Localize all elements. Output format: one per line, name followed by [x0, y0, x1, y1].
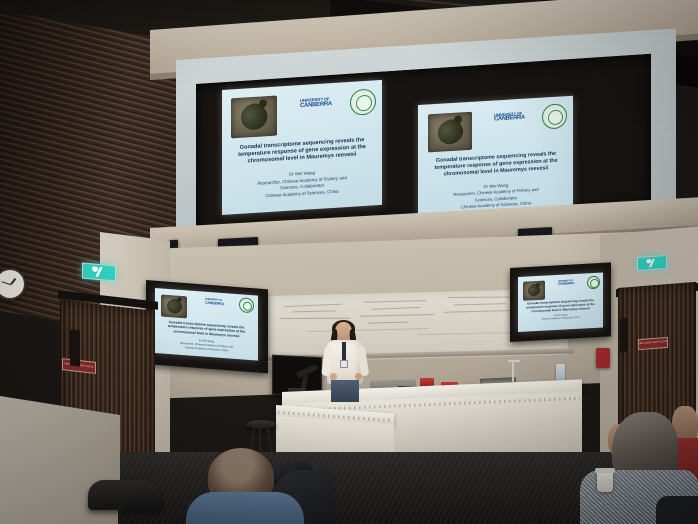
slide-turtle-image	[523, 281, 545, 301]
lecture-chair-left[interactable]	[88, 480, 162, 510]
university-logo-line-2: CANBERRA	[205, 301, 224, 306]
coffee-cup-lid	[595, 468, 615, 473]
society-seal-logo	[587, 276, 600, 290]
university-logo: UNIVERSITY OF CANBERRA	[205, 299, 224, 307]
university-logo-line-2: CANBERRA	[494, 116, 525, 124]
coffee-cup[interactable]	[597, 470, 613, 492]
society-seal-logo	[239, 297, 254, 313]
presenter-hand-right	[355, 373, 362, 380]
bar-stool-seat[interactable]	[246, 420, 276, 429]
slide-turtle-image	[231, 96, 277, 139]
wall-monitor-right[interactable]: UNIVERSITY OF CANBERRA Gonadal transcrip…	[518, 273, 603, 332]
projection-screen-left[interactable]: UNIVERSITY OF CANBERRA Gonadal transcrip…	[222, 80, 382, 215]
fire-door-notice-right-text: FIRE DOOR KEEP CLEAR	[639, 341, 668, 346]
university-logo: UNIVERSITY OF CANBERRA	[558, 280, 574, 286]
exit-sign-left	[82, 263, 116, 282]
slide-presenter-block: Dr Wei Wang Chinese Academy of Sciences,…	[522, 313, 599, 324]
door-handle-left[interactable]	[70, 329, 80, 366]
presenter-name-badge	[340, 360, 348, 368]
university-logo: UNIVERSITY OF CANBERRA	[494, 112, 525, 124]
slide-turtle-image	[161, 294, 187, 318]
slide-title: Gonadal transcriptome sequencing reveals…	[230, 136, 374, 167]
door-handle-right[interactable]	[620, 318, 628, 353]
slide-title: Gonadal transcriptome sequencing reveals…	[522, 299, 599, 315]
running-man-icon	[644, 258, 661, 268]
turtle-head	[536, 282, 541, 287]
presenter-hand-left	[330, 373, 337, 380]
sink-tap[interactable]	[512, 362, 514, 382]
slide-title: Gonadal transcriptome sequencing reveals…	[426, 150, 566, 179]
turtle-head	[453, 114, 463, 124]
sink-tap-spout	[508, 360, 520, 362]
university-logo-line-2: CANBERRA	[558, 282, 574, 286]
exit-sign-right	[637, 255, 667, 271]
society-seal-logo	[542, 103, 567, 129]
society-seal-logo	[350, 88, 376, 116]
wall-monitor-left[interactable]: UNIVERSITY OF CANBERRA Gonadal transcrip…	[155, 288, 258, 361]
presenter-lanyard	[342, 342, 346, 362]
fire-door-notice-right: FIRE DOOR KEEP CLEAR	[638, 337, 668, 350]
university-logo-line-2: CANBERRA	[300, 101, 332, 109]
wall-mounted-phone[interactable]	[596, 348, 610, 368]
lecture-theatre-photo: UNIVERSITY OF CANBERRA Gonadal transcrip…	[0, 0, 698, 524]
presenter-lower-body	[331, 380, 359, 402]
presenter-at-bench	[322, 322, 368, 400]
running-man-icon	[89, 266, 108, 277]
slide-presenter-block: Dr Wei Wang Researcher, Chinese Academy …	[160, 336, 253, 355]
audience-member-bottom-right-shoulder	[656, 496, 698, 524]
audience-member-front-left-body	[186, 492, 304, 524]
slide-title: Gonadal transcriptome sequencing reveals…	[160, 319, 253, 339]
slide-turtle-image	[428, 112, 472, 153]
chair-stem	[118, 504, 123, 524]
slide-presenter-block: Dr Wei Wang Researcher, Chinese Academy …	[230, 166, 374, 201]
university-logo: UNIVERSITY OF CANBERRA	[300, 97, 332, 109]
